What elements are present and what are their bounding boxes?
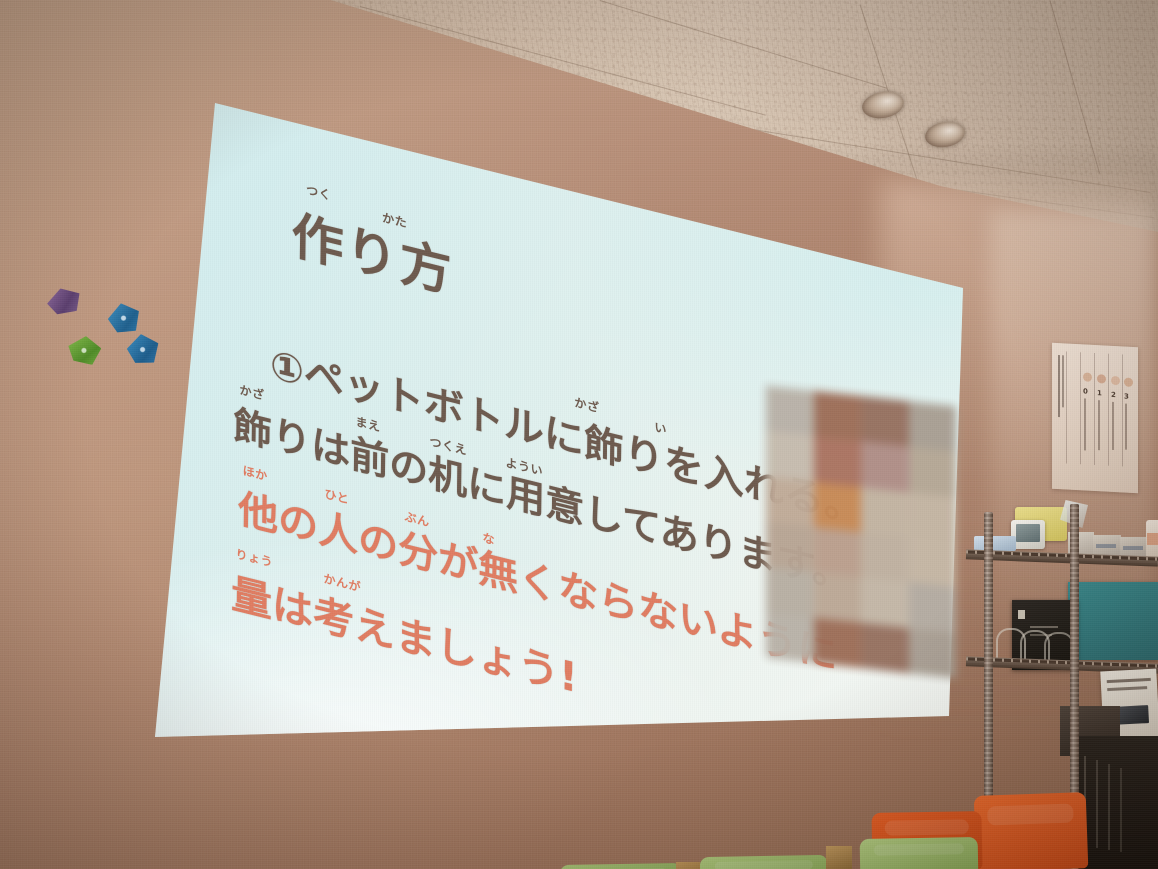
- chair-wood-frame: [676, 862, 700, 869]
- pixel-cell: [861, 623, 909, 673]
- chair-green-1: [860, 837, 979, 869]
- pixel-cell: [814, 481, 862, 531]
- pixel-cell: [909, 537, 957, 588]
- pixel-cell: [814, 572, 862, 622]
- white-monitor-device: [1011, 520, 1045, 549]
- pixel-cell: [861, 487, 909, 537]
- pixel-cell: [766, 567, 814, 617]
- chair-green-3: [560, 863, 683, 869]
- pixel-cell: [814, 617, 862, 667]
- photo-scene: 0 1 2 3 つく かた 作り方 かざ い ①ペットボトルに飾りを入れる。 か…: [0, 0, 1158, 869]
- pixel-cell: [909, 492, 957, 542]
- pixel-cell: [861, 441, 909, 491]
- pixel-cell: [861, 532, 909, 583]
- blue-folder: [974, 536, 1016, 551]
- pixel-cell: [766, 431, 814, 481]
- poster-face: [1111, 376, 1120, 385]
- pixel-cell: [909, 401, 957, 451]
- pixel-cell: [766, 386, 814, 436]
- pixel-cell: [814, 391, 862, 441]
- pixel-cell: [766, 522, 814, 573]
- poster-number: 2: [1111, 391, 1116, 399]
- poster-face: [1097, 374, 1106, 383]
- pixel-cell: [814, 436, 862, 486]
- poster-face: [1083, 372, 1092, 381]
- pixelated-privacy-block: [766, 386, 956, 679]
- pixel-cell: [909, 582, 957, 632]
- wall-poster: 0 1 2 3: [1052, 343, 1138, 494]
- pixel-cell: [814, 527, 862, 578]
- pixel-cell: [909, 446, 957, 496]
- poster-face: [1124, 378, 1133, 387]
- pixel-cell: [766, 612, 814, 662]
- chair-orange-1: [974, 792, 1089, 869]
- origami-blue-2: [125, 332, 161, 366]
- chair-wood-frame: [826, 846, 852, 869]
- chair-green-2: [700, 855, 829, 869]
- poster-number: 1: [1097, 389, 1102, 397]
- poster-number: 3: [1124, 393, 1129, 401]
- pixel-cell: [766, 476, 814, 526]
- stacked-chairs-dark: [1078, 736, 1158, 869]
- origami-green: [67, 334, 103, 365]
- pixel-cell: [909, 628, 957, 678]
- pixel-cell: [861, 577, 909, 627]
- poster-number: 0: [1083, 387, 1088, 395]
- pixel-cell: [861, 396, 909, 446]
